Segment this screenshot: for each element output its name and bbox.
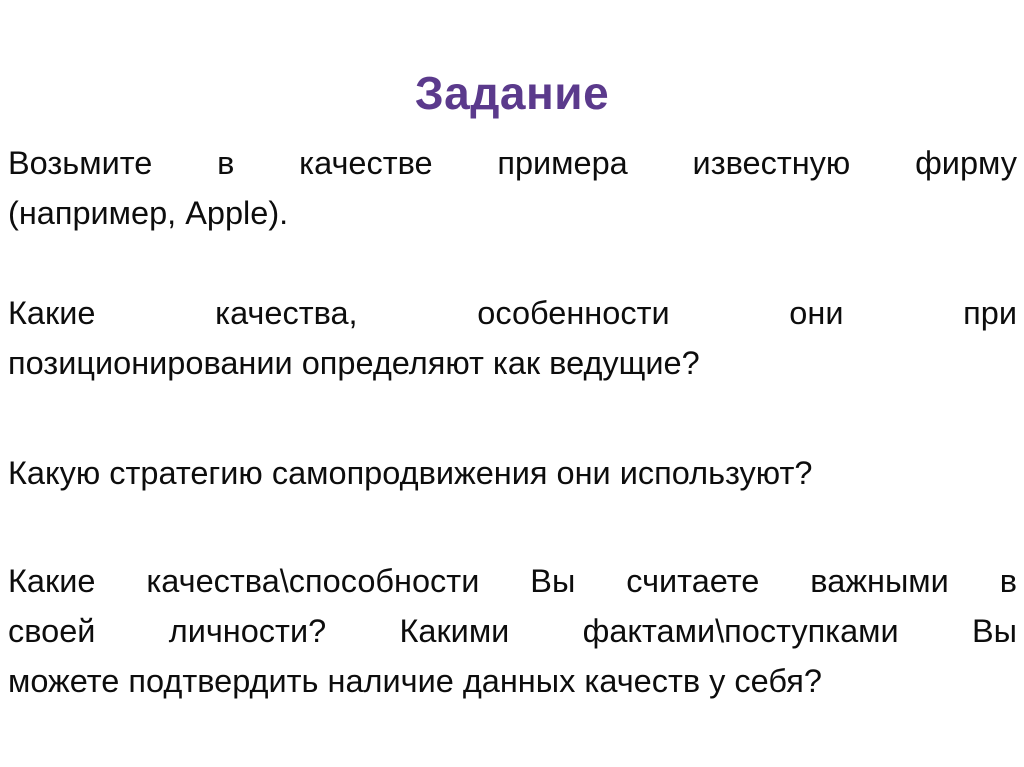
paragraph-4-line-2: своей личности? Какими фактами\поступкам…	[8, 606, 1017, 656]
paragraph-2-line-1: Какие качества, особенности они при	[8, 288, 1017, 338]
paragraph-2-line-2: позиционировании определяют как ведущие?	[8, 338, 1017, 388]
paragraph-4-line-3: можете подтвердить наличие данных качест…	[8, 656, 1017, 706]
spacer-after-paragraph-2	[8, 388, 1017, 448]
slide-body: Возьмите в качестве примера известную фи…	[8, 138, 1017, 706]
paragraph-3-line-1: Какую стратегию самопродвижения они испо…	[8, 448, 1017, 498]
spacer-after-paragraph-3	[8, 498, 1017, 556]
slide-canvas: Задание Возьмите в качестве примера изве…	[0, 0, 1024, 767]
paragraph-1-line-1: Возьмите в качестве примера известную фи…	[8, 138, 1017, 188]
page-title: Задание	[0, 65, 1024, 121]
paragraph-1-line-2: (например, Apple).	[8, 188, 1017, 238]
paragraph-4-line-1: Какие качества\способности Вы считаете в…	[8, 556, 1017, 606]
spacer-after-paragraph-1	[8, 238, 1017, 288]
